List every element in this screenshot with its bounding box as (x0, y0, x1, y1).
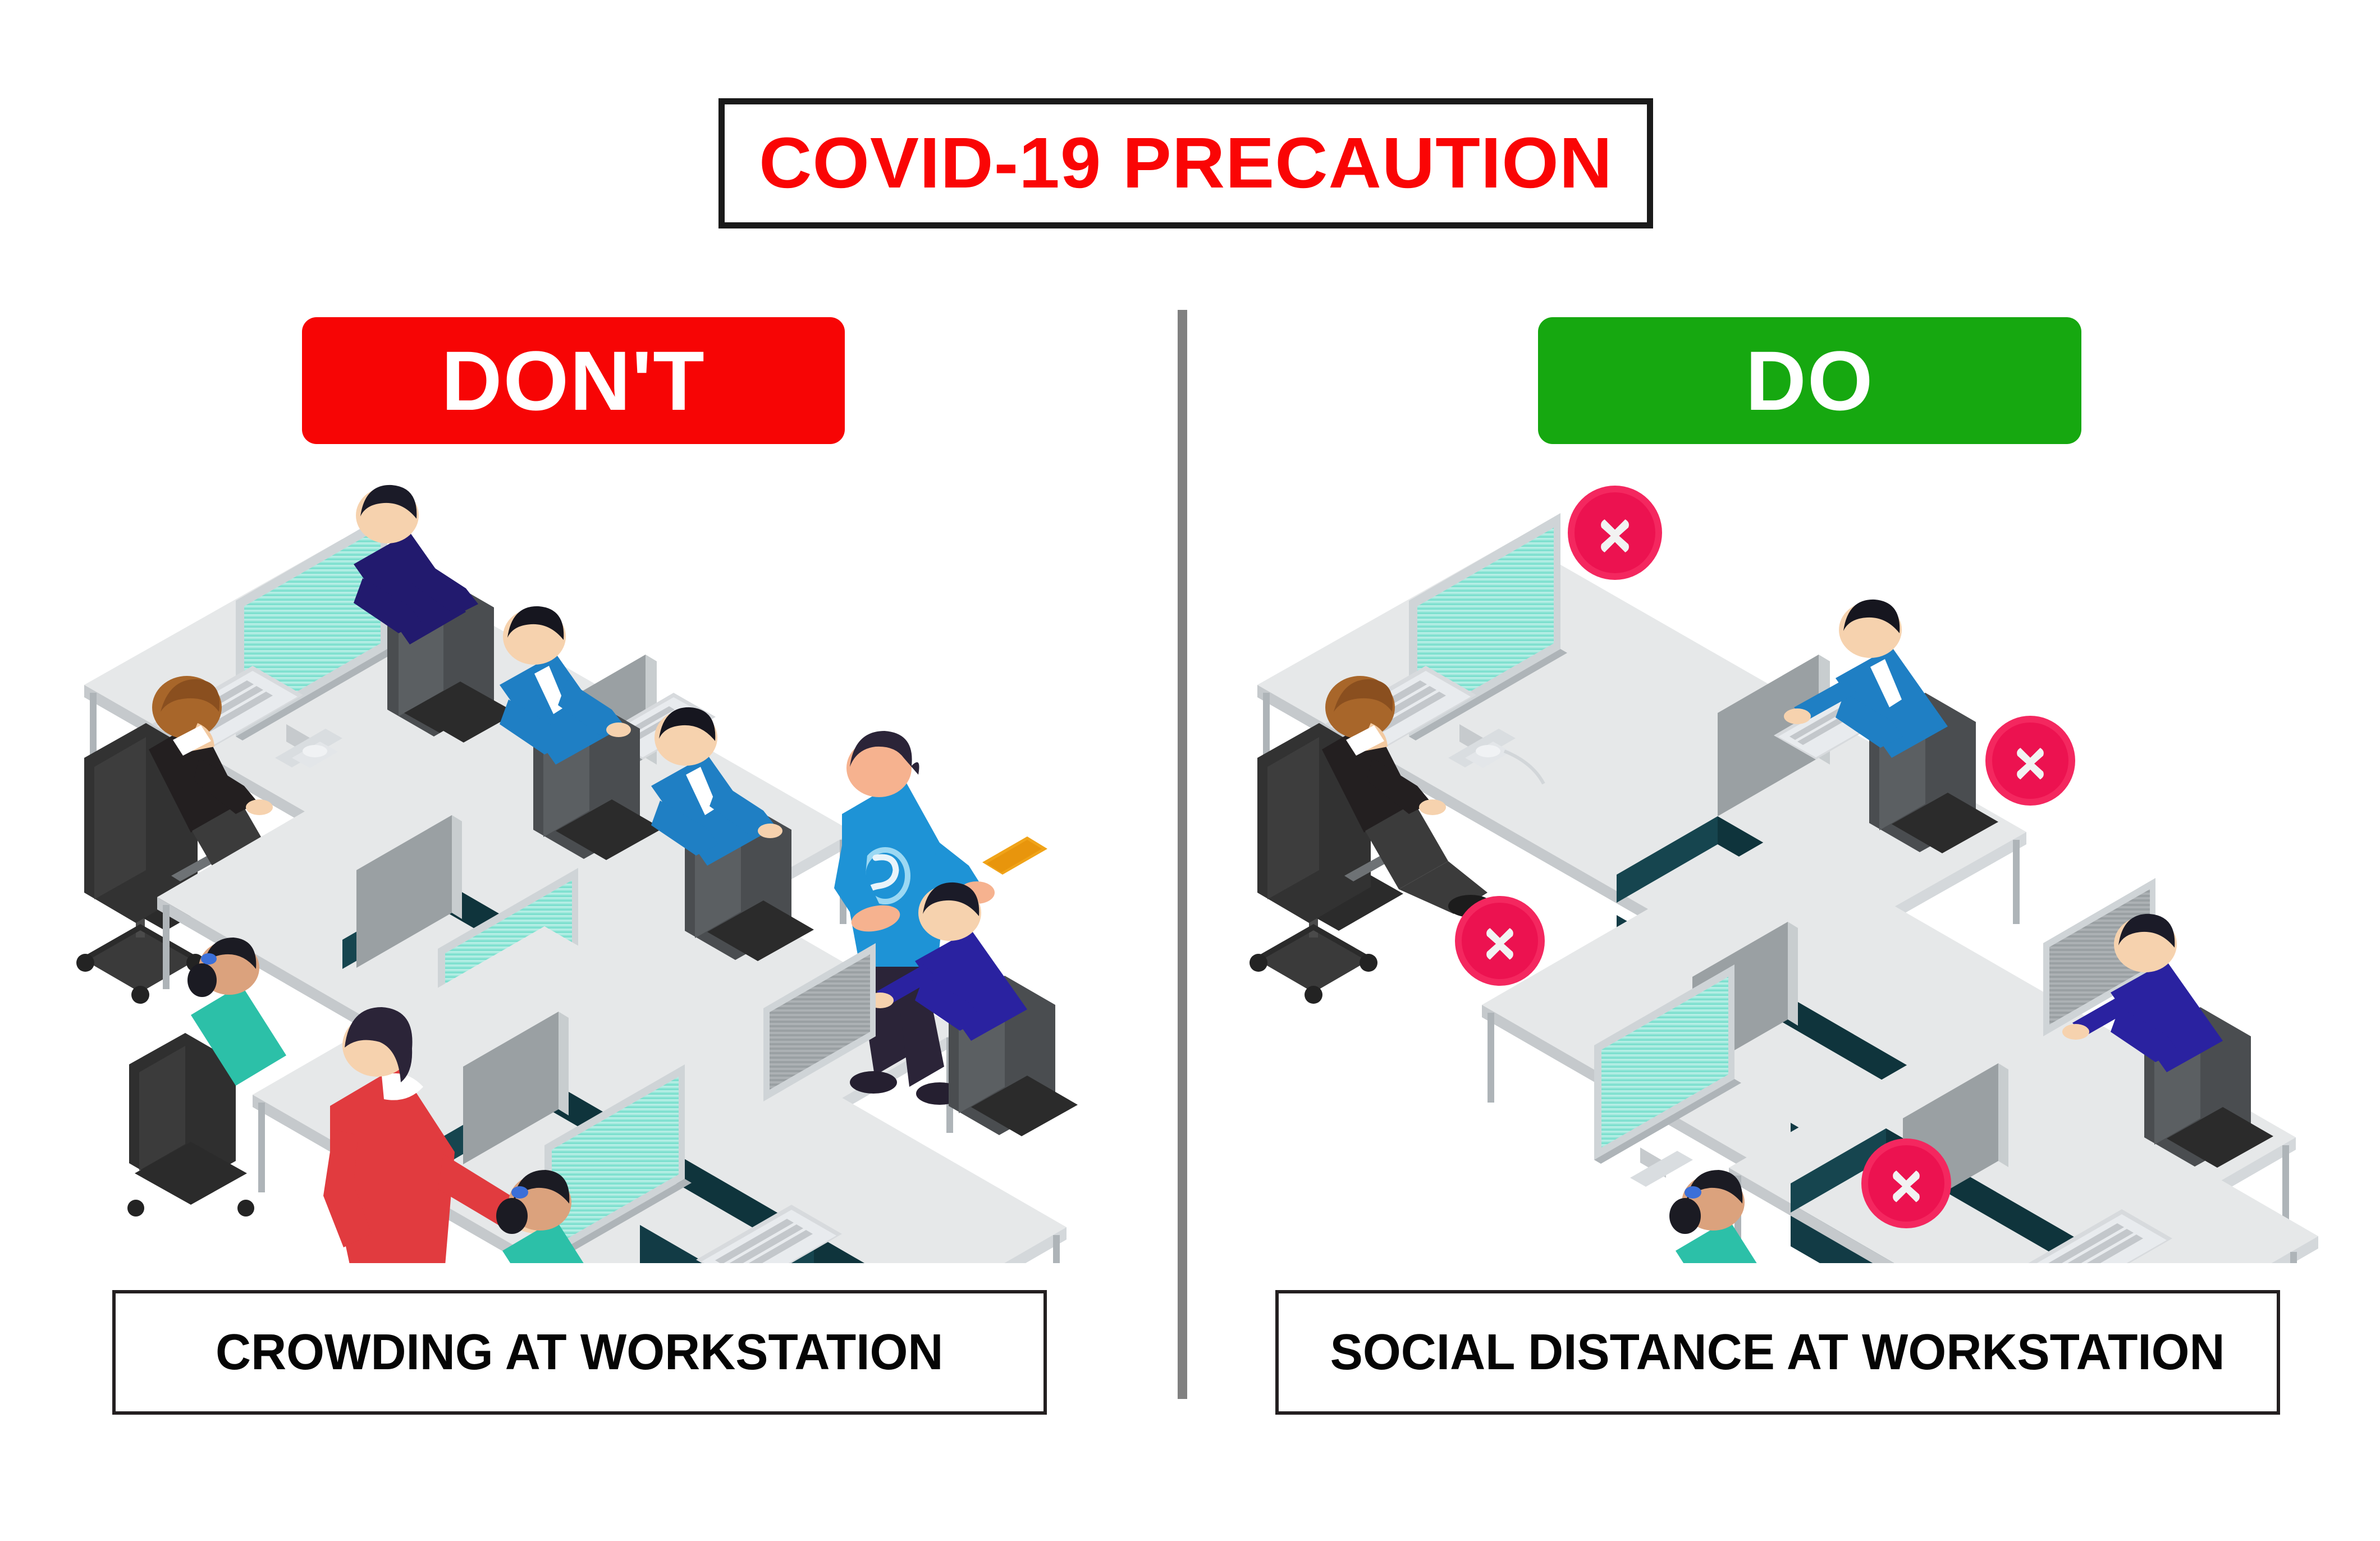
close-icon (1475, 916, 1525, 966)
close-icon (1589, 507, 1641, 559)
dont-badge: DON'T (302, 317, 845, 444)
x-marker-right (1985, 716, 2075, 806)
do-badge: DO (1538, 317, 2081, 444)
do-badge-label: DO (1746, 339, 1874, 423)
close-icon (1882, 1159, 1931, 1208)
poster-canvas: COVID-19 PRECAUTION DON'T DO (0, 0, 2380, 1541)
x-marker-left (1455, 896, 1545, 986)
left-caption-box: CROWDING AT WORKSTATION (112, 1290, 1047, 1415)
dont-badge-label: DON'T (441, 339, 706, 423)
social-distance-workstation-illustration (1224, 443, 2324, 1263)
right-caption-box: SOCIAL DISTANCE AT WORKSTATION (1275, 1290, 2280, 1415)
x-marker-bottom (1861, 1138, 1951, 1228)
left-caption-text: CROWDING AT WORKSTATION (216, 1327, 943, 1378)
right-caption-text: SOCIAL DISTANCE AT WORKSTATION (1330, 1327, 2225, 1378)
crowded-workstation-illustration (51, 443, 1139, 1263)
x-marker-top (1568, 486, 1662, 580)
poster-title-box: COVID-19 PRECAUTION (718, 98, 1653, 228)
page-title: COVID-19 PRECAUTION (759, 127, 1613, 199)
close-icon (2006, 736, 2055, 785)
panel-divider (1178, 310, 1187, 1399)
